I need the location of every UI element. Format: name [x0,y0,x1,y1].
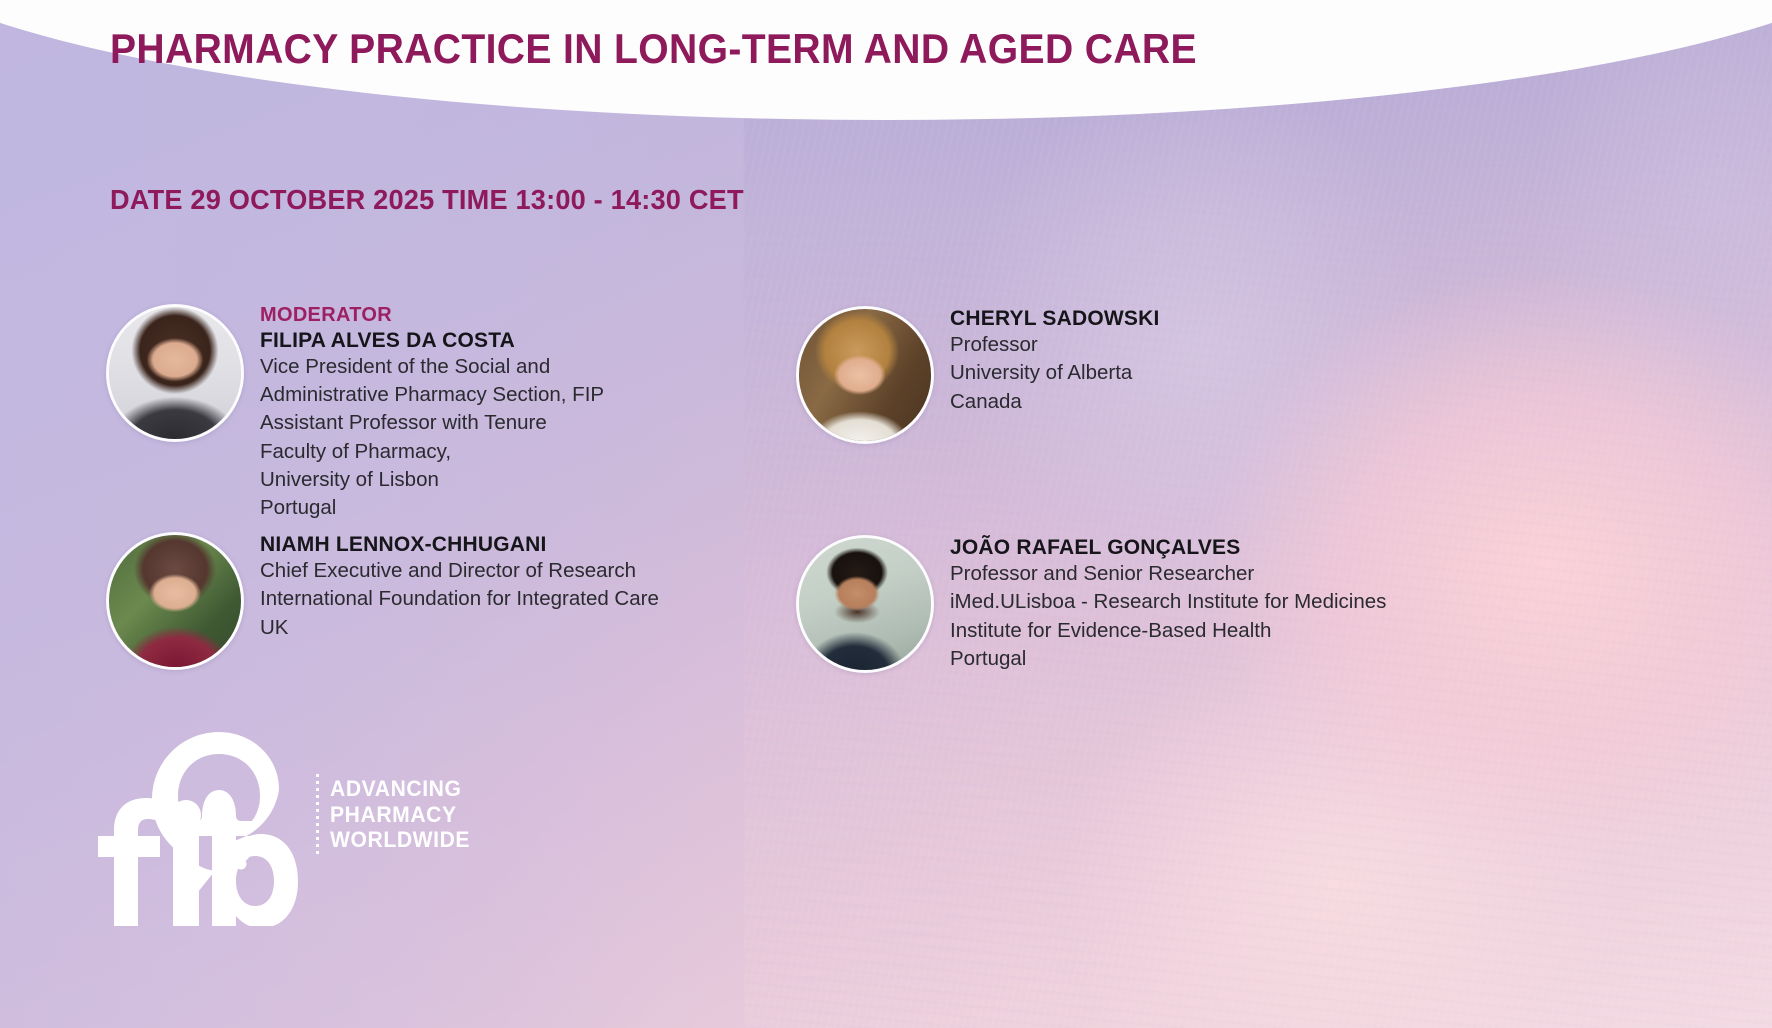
person-affiliation-line: Faculty of Pharmacy, [260,438,604,466]
avatar-joao [796,535,934,673]
person-details: MODERATOR FILIPA ALVES DA COSTA Vice Pre… [260,304,604,522]
person-affiliation-line: Institute for Evidence-Based Health [950,617,1386,645]
person-affiliation-line: Assistant Professor with Tenure [260,409,604,437]
person-affiliation-line: Professor [950,331,1160,359]
avatar-photo [109,535,241,667]
person-card-joao: JOÃO RAFAEL GONÇALVES Professor and Seni… [796,535,1386,673]
fip-tagline-line-3: WORLDWIDE [330,827,470,853]
person-country: Canada [950,388,1160,416]
person-details: NIAMH LENNOX-CHHUGANI Chief Executive an… [260,532,659,642]
person-details: CHERYL SADOWSKI Professor University of … [950,306,1160,416]
fip-tagline-line-1: ADVANCING [330,776,470,802]
person-country: Portugal [260,494,604,522]
person-name: JOÃO RAFAEL GONÇALVES [950,535,1386,560]
person-details: JOÃO RAFAEL GONÇALVES Professor and Seni… [950,535,1386,673]
person-card-cheryl: CHERYL SADOWSKI Professor University of … [796,306,1160,444]
person-affiliation-line: Professor and Senior Researcher [950,560,1386,588]
person-affiliation-line: Vice President of the Social and [260,353,604,381]
person-country: Portugal [950,645,1386,673]
person-affiliation-line: University of Lisbon [260,466,604,494]
person-card-niamh: NIAMH LENNOX-CHHUGANI Chief Executive an… [106,532,659,670]
page-title: PHARMACY PRACTICE IN LONG-TERM AND AGED … [110,27,1197,72]
person-affiliation-line: Chief Executive and Director of Research [260,557,659,585]
person-affiliation-line: University of Alberta [950,359,1160,387]
person-role-tag: MODERATOR [260,304,604,328]
person-name: CHERYL SADOWSKI [950,306,1160,331]
person-card-filipa: MODERATOR FILIPA ALVES DA COSTA Vice Pre… [106,304,604,522]
avatar-filipa [106,304,244,442]
fip-logo: ADVANCING PHARMACY WORLDWIDE [78,726,428,926]
logo-divider [316,774,319,856]
person-country: UK [260,614,659,642]
webinar-poster: PHARMACY PRACTICE IN LONG-TERM AND AGED … [0,0,1772,1028]
person-affiliation-line: iMed.ULisboa - Research Institute for Me… [950,588,1386,616]
person-affiliation-line: Administrative Pharmacy Section, FIP [260,381,604,409]
avatar-photo [109,307,241,439]
person-name: NIAMH LENNOX-CHHUGANI [260,532,659,557]
avatar-niamh [106,532,244,670]
event-datetime: DATE 29 OCTOBER 2025 TIME 13:00 - 14:30 … [110,184,744,216]
fip-tagline-line-2: PHARMACY [330,802,470,828]
avatar-photo [799,309,931,441]
avatar-cheryl [796,306,934,444]
fip-tagline: ADVANCING PHARMACY WORLDWIDE [330,776,470,853]
person-name: FILIPA ALVES DA COSTA [260,328,604,353]
person-affiliation-line: International Foundation for Integrated … [260,585,659,613]
avatar-photo [799,538,931,670]
